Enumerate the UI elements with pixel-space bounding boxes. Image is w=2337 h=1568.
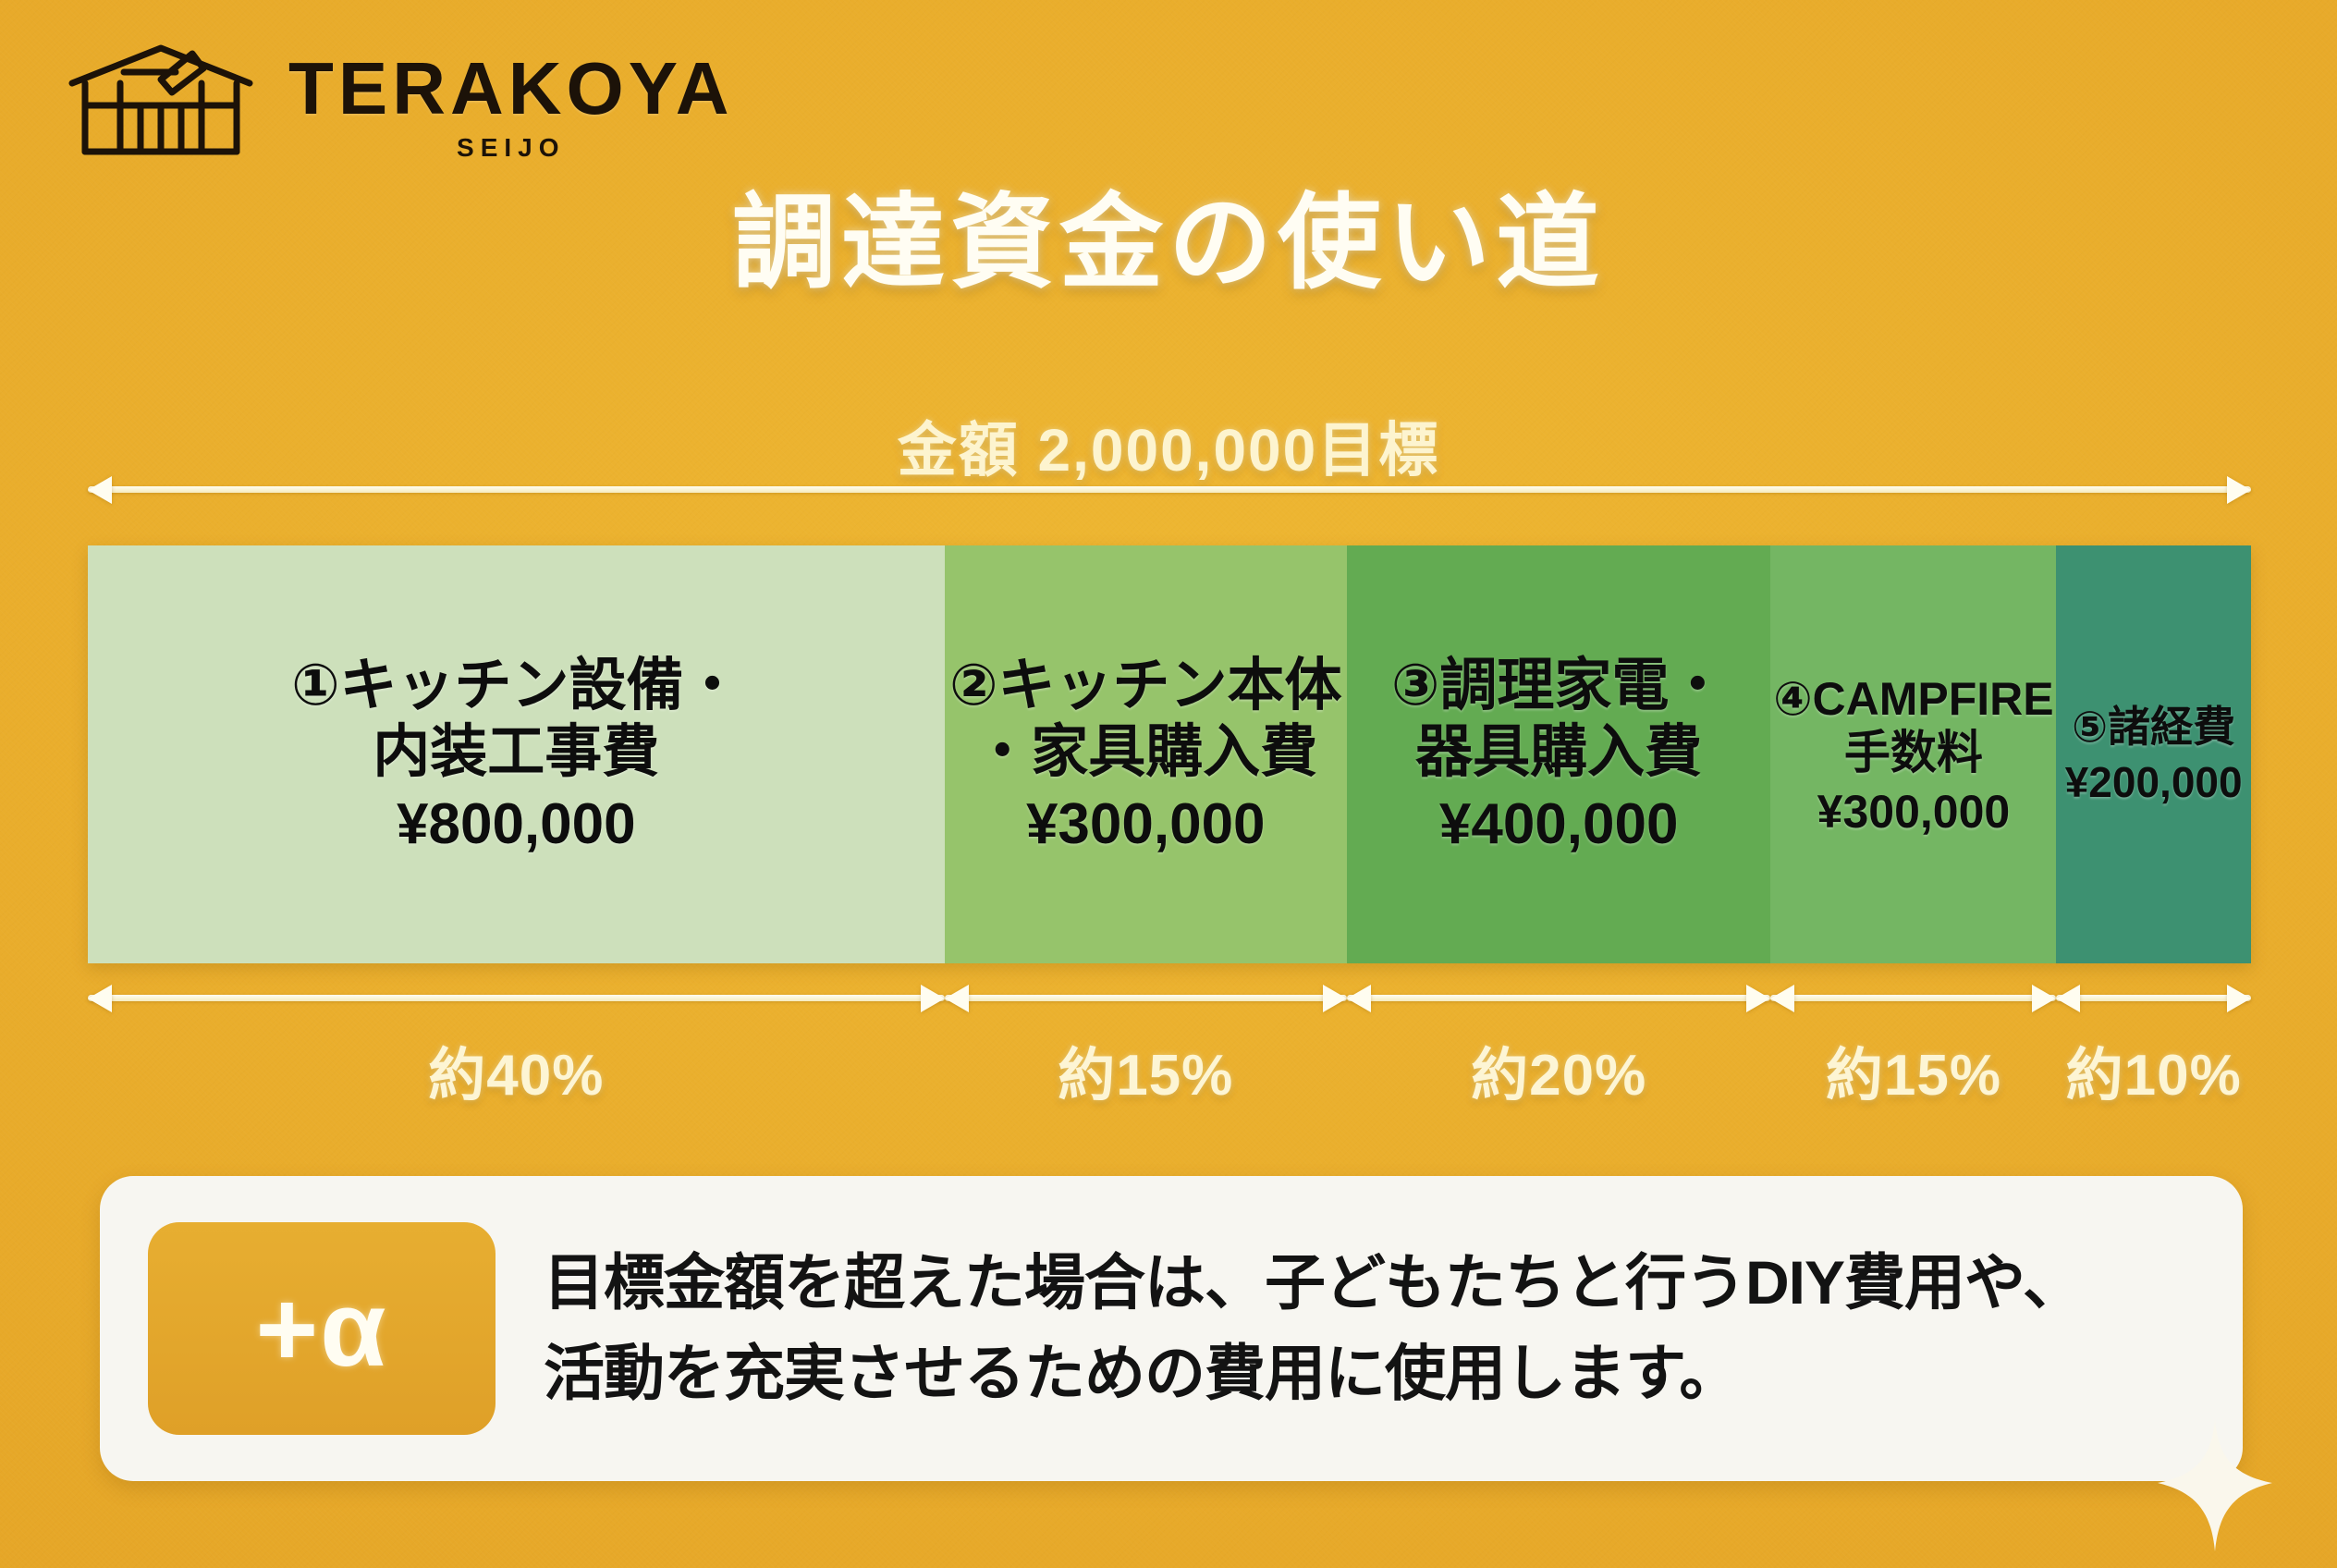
arrow-head-left-icon [2056, 985, 2080, 1012]
arrow-shaft [88, 486, 2251, 493]
arrow-segment-5 [2056, 982, 2251, 1013]
arrow-segment-4 [1770, 982, 2056, 1013]
arrow-head-right-icon [2032, 985, 2056, 1012]
arrow-segment-3 [1347, 982, 1771, 1013]
house-outline-icon [65, 39, 257, 161]
arrow-shaft [2056, 995, 2251, 1001]
arrow-head-left-icon [1347, 985, 1371, 1012]
arrow-head-right-icon [921, 985, 945, 1012]
bar-segment-1-label: ①キッチン設備・ 内装工事費 [291, 653, 741, 786]
segment-range-arrows [88, 982, 2251, 1013]
bar-segment-2[interactable]: ②キッチン本体 ・家具購入費 ¥300,000 [945, 545, 1347, 963]
bar-segment-5[interactable]: ⑤諸経費 ¥200,000 [2056, 545, 2251, 963]
percent-label-5: 約10% [2056, 1028, 2251, 1111]
extra-funds-note-card: +α 目標金額を超えた場合は、子どもたちと行うDIY費用や、 活動を充実させるた… [100, 1176, 2243, 1481]
bar-segment-1-amount: ¥800,000 [397, 793, 636, 856]
total-range-arrow [88, 473, 2251, 505]
bar-segment-1[interactable]: ①キッチン設備・ 内装工事費 ¥800,000 [88, 545, 945, 963]
percent-label-3: 約20% [1347, 1028, 1771, 1111]
arrow-head-left-icon [945, 985, 969, 1012]
bar-segment-2-amount: ¥300,000 [1026, 793, 1266, 856]
arrow-shaft [1347, 995, 1771, 1001]
percent-label-2: 約15% [945, 1028, 1347, 1111]
extra-funds-note-text: 目標金額を超えた場合は、子どもたちと行うDIY費用や、 活動を充実させるための費… [544, 1238, 2083, 1418]
brand-logo: TERAKOYA SEIJO [65, 39, 734, 163]
arrow-head-left-icon [88, 985, 112, 1012]
brand-wordmark: TERAKOYA SEIJO [288, 39, 734, 163]
percentage-labels: 約40% 約15% 約20% 約15% 約10% [88, 1028, 2251, 1111]
bar-segment-2-label: ②キッチン本体 ・家具購入費 [949, 653, 1342, 786]
arrow-head-right-icon [1746, 985, 1770, 1012]
arrow-segment-1 [88, 982, 945, 1013]
bar-segment-3[interactable]: ③調理家電・ 器具購入費 ¥400,000 [1347, 545, 1771, 963]
bar-segment-4-label: ④CAMPFIRE 手数料 [1773, 672, 2053, 779]
brand-name: TERAKOYA [288, 54, 734, 124]
funding-breakdown-bar: ①キッチン設備・ 内装工事費 ¥800,000 ②キッチン本体 ・家具購入費 ¥… [88, 545, 2251, 963]
arrow-head-right-icon [2227, 476, 2251, 504]
page-title: 調達資金の使い道 [0, 159, 2337, 309]
bar-segment-5-label: ⑤諸経費 [2072, 703, 2235, 752]
arrow-shaft [88, 995, 945, 1001]
bar-segment-3-label: ③調理家電・ 器具購入費 [1391, 653, 1727, 786]
slide-canvas: TERAKOYA SEIJO 調達資金の使い道 金額 2,000,000目標 ①… [0, 0, 2337, 1568]
arrow-segment-total [88, 473, 2251, 505]
arrow-head-left-icon [1770, 985, 1794, 1012]
arrow-shaft [1770, 995, 2056, 1001]
arrow-segment-2 [945, 982, 1347, 1013]
bar-segment-5-amount: ¥200,000 [2065, 759, 2243, 806]
note-line-2: 活動を充実させるための費用に使用します。 [544, 1329, 2083, 1419]
arrow-head-right-icon [1323, 985, 1347, 1012]
percent-label-1: 約40% [88, 1028, 945, 1111]
bar-segment-3-amount: ¥400,000 [1439, 793, 1679, 856]
plus-alpha-badge: +α [148, 1222, 496, 1435]
note-line-1: 目標金額を超えた場合は、子どもたちと行うDIY費用や、 [544, 1238, 2083, 1329]
percent-label-4: 約15% [1770, 1028, 2056, 1111]
bar-segment-4[interactable]: ④CAMPFIRE 手数料 ¥300,000 [1770, 545, 2056, 963]
arrow-shaft [945, 995, 1347, 1001]
arrow-head-left-icon [88, 476, 112, 504]
arrow-head-right-icon [2227, 985, 2251, 1012]
bar-segment-4-amount: ¥300,000 [1817, 787, 2011, 838]
